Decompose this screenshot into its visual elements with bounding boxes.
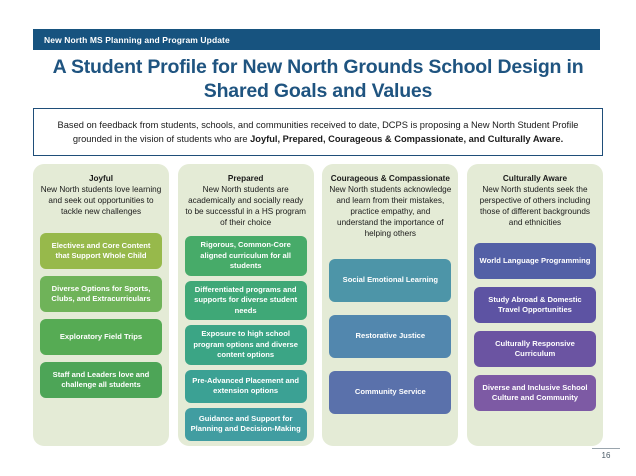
page-number-rule	[592, 448, 620, 449]
chip[interactable]: Electives and Core Content that Support …	[40, 233, 162, 269]
chip[interactable]: Staff and Leaders love and challenge all…	[40, 362, 162, 398]
column-header-joyful: Joyful New North students love learning …	[40, 173, 162, 217]
page-number: 16	[592, 451, 620, 460]
column-title: Joyful	[40, 173, 162, 184]
chip[interactable]: Culturally Responsive Curriculum	[474, 331, 596, 367]
column-header-prepared: Prepared New North students are academic…	[185, 173, 307, 228]
column-description: New North students are academically and …	[185, 184, 307, 228]
chip[interactable]: Differentiated programs and supports for…	[185, 281, 307, 321]
column-courageous-compassionate: Courageous & Compassionate New North stu…	[322, 164, 458, 446]
column-header-cultural: Culturally Aware New North students seek…	[474, 173, 596, 228]
chip[interactable]: Pre-Advanced Placement and extension opt…	[185, 370, 307, 403]
column-title: Culturally Aware	[474, 173, 596, 184]
chip[interactable]: Community Service	[329, 371, 451, 414]
column-header-courageous: Courageous & Compassionate New North stu…	[329, 173, 451, 239]
column-description: New North students acknowledge and learn…	[329, 184, 451, 239]
chip[interactable]: Study Abroad & Domestic Travel Opportuni…	[474, 287, 596, 323]
column-title: Courageous & Compassionate	[329, 173, 451, 184]
slide: New North MS Planning and Program Update…	[0, 0, 636, 476]
chip-list-joyful: Electives and Core Content that Support …	[40, 233, 162, 438]
chip-list-prepared: Rigorous, Common-Core aligned curriculum…	[185, 236, 307, 441]
column-prepared: Prepared New North students are academic…	[178, 164, 314, 446]
page-title: A Student Profile for New North Grounds …	[40, 55, 596, 103]
callout-text: Based on feedback from students, schools…	[34, 118, 602, 147]
callout-box: Based on feedback from students, schools…	[33, 108, 603, 156]
header-ribbon: New North MS Planning and Program Update	[33, 29, 600, 50]
column-culturally-aware: Culturally Aware New North students seek…	[467, 164, 603, 446]
column-title: Prepared	[185, 173, 307, 184]
chip-list-cultural: World Language Programming Study Abroad …	[474, 243, 596, 438]
ribbon-label: New North MS Planning and Program Update	[33, 35, 230, 45]
column-description: New North students seek the perspective …	[474, 184, 596, 228]
chip[interactable]: World Language Programming	[474, 243, 596, 279]
callout-bold: Joyful, Prepared, Courageous & Compassio…	[250, 134, 563, 144]
chip[interactable]: Exploratory Field Trips	[40, 319, 162, 355]
column-joyful: Joyful New North students love learning …	[33, 164, 169, 446]
chip-list-courageous: Social Emotional Learning Restorative Ju…	[329, 259, 451, 438]
chip[interactable]: Diverse and Inclusive School Culture and…	[474, 375, 596, 411]
profile-columns: Joyful New North students love learning …	[33, 164, 603, 446]
chip[interactable]: Rigorous, Common-Core aligned curriculum…	[185, 236, 307, 276]
chip[interactable]: Restorative Justice	[329, 315, 451, 358]
chip[interactable]: Exposure to high school program options …	[185, 325, 307, 365]
chip[interactable]: Diverse Options for Sports, Clubs, and E…	[40, 276, 162, 312]
chip[interactable]: Guidance and Support for Planning and De…	[185, 408, 307, 441]
column-description: New North students love learning and see…	[40, 184, 162, 217]
chip[interactable]: Social Emotional Learning	[329, 259, 451, 302]
